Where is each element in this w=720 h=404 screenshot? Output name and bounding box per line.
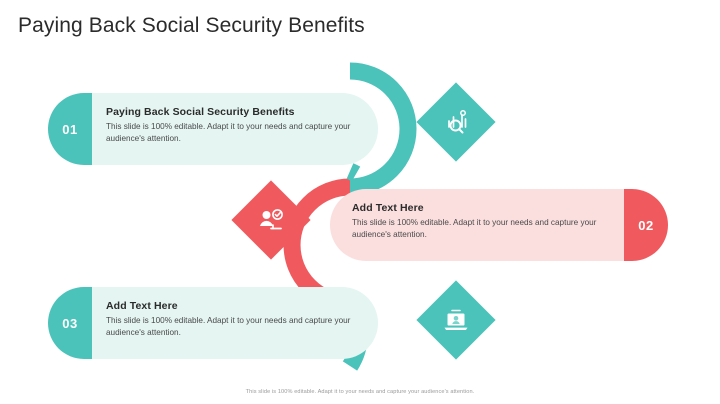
footer-note: This slide is 100% editable. Adapt it to… [0,389,720,395]
content-row-02[interactable]: Add Text Here This slide is 100% editabl… [330,189,668,261]
row-number-badge-03: 03 [48,287,92,359]
row-card-02: Add Text Here This slide is 100% editabl… [330,189,624,261]
laptop-user-icon [441,305,471,335]
data-analysis-icon [441,107,471,137]
row-card-01: Paying Back Social Security Benefits Thi… [92,93,378,165]
row-number-badge-01: 01 [48,93,92,165]
row-title-01: Paying Back Social Security Benefits [106,106,362,118]
arc-joint-top [350,171,356,174]
page-title: Paying Back Social Security Benefits [18,14,365,38]
content-row-01[interactable]: 01 Paying Back Social Security Benefits … [48,93,378,165]
slide-canvas: Paying Back Social Security Benefits 01 … [0,0,720,404]
row-card-03: Add Text Here This slide is 100% editabl… [92,287,378,359]
row-body-03: This slide is 100% editable. Adapt it to… [106,315,362,340]
diamond-icon-tile-02 [231,180,310,259]
user-verified-icon [256,205,286,235]
diamond-icon-tile-03 [416,280,495,359]
diamond-icon-tile-01 [416,82,495,161]
row-body-01: This slide is 100% editable. Adapt it to… [106,121,362,146]
row-title-03: Add Text Here [106,300,362,312]
content-row-03[interactable]: 03 Add Text Here This slide is 100% edit… [48,287,378,359]
row-number-badge-02: 02 [624,189,668,261]
row-body-02: This slide is 100% editable. Adapt it to… [352,217,608,242]
row-title-02: Add Text Here [352,202,608,214]
